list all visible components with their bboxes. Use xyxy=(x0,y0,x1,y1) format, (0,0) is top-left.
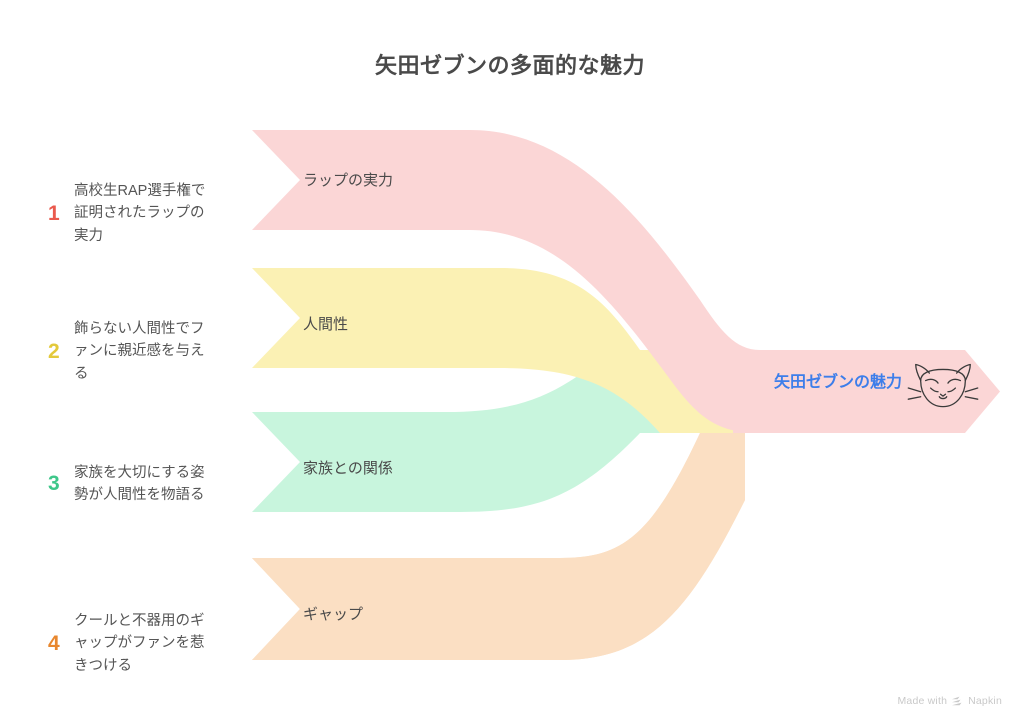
step-item-2[interactable]: 2 飾らない人間性でファンに親近感を与える xyxy=(48,318,244,385)
step-number-1: 1 xyxy=(48,202,74,226)
watermark-brand: Napkin xyxy=(968,695,1002,707)
napkin-logo-icon xyxy=(951,696,964,707)
step-item-1[interactable]: 1 高校生RAP選手権で証明されたラップの実力 xyxy=(48,180,244,247)
napkin-watermark: Made with Napkin xyxy=(897,695,1002,707)
step-text-4: クールと不器用のギャップがファンを惹きつける xyxy=(74,610,214,677)
flow-label-1: ラップの実力 xyxy=(303,170,393,191)
step-text-1: 高校生RAP選手権で証明されたラップの実力 xyxy=(74,180,214,247)
endpoint-label: 矢田ゼブンの魅力 xyxy=(752,371,902,394)
step-number-3: 3 xyxy=(48,472,74,496)
page-title: 矢田ゼブンの多面的な魅力 xyxy=(0,48,1020,80)
step-text-2: 飾らない人間性でファンに親近感を与える xyxy=(74,318,214,385)
flow-label-4: ギャップ xyxy=(303,604,363,625)
step-item-4[interactable]: 4 クールと不器用のギャップがファンを惹きつける xyxy=(48,610,244,677)
step-text-3: 家族を大切にする姿勢が人間性を物語る xyxy=(74,462,214,507)
flow-label-2: 人間性 xyxy=(303,314,348,335)
watermark-prefix: Made with xyxy=(897,695,947,707)
step-number-4: 4 xyxy=(48,632,74,656)
flow-label-3: 家族との関係 xyxy=(303,458,393,479)
step-item-3[interactable]: 3 家族を大切にする姿勢が人間性を物語る xyxy=(48,462,244,507)
step-number-2: 2 xyxy=(48,340,74,364)
